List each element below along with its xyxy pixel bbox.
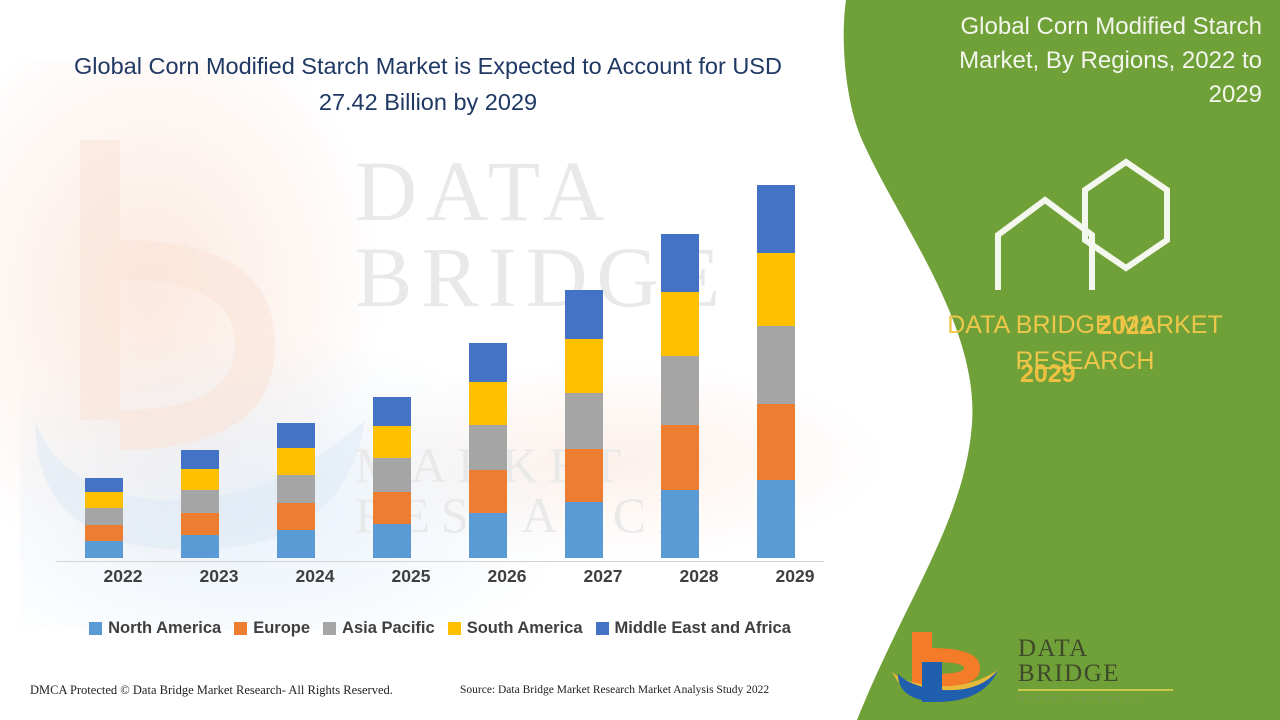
bar-segment[interactable] — [181, 535, 219, 558]
hex-2022-icon — [1085, 162, 1167, 268]
bar-group[interactable] — [85, 478, 123, 558]
bar-segment[interactable] — [469, 382, 507, 425]
stacked-bar-chart — [56, 150, 824, 562]
bar-segment[interactable] — [661, 234, 699, 292]
legend-swatch — [234, 622, 247, 635]
legend-swatch — [448, 622, 461, 635]
x-axis-labels: 20222023202420252026202720282029 — [56, 566, 824, 594]
legend-swatch — [89, 622, 102, 635]
bar-segment[interactable] — [661, 490, 699, 558]
chart-legend: North AmericaEuropeAsia PacificSouth Ame… — [56, 615, 824, 641]
bar-segment[interactable] — [757, 253, 795, 326]
bar-segment[interactable] — [277, 503, 315, 530]
bar-segment[interactable] — [277, 423, 315, 448]
x-axis-line — [56, 561, 824, 562]
hex-badges: 2029 2022 — [880, 140, 1280, 290]
bar-segment[interactable] — [469, 425, 507, 470]
bar-segment[interactable] — [757, 185, 795, 253]
bar-group[interactable] — [469, 343, 507, 558]
legend-item[interactable]: Middle East and Africa — [596, 619, 791, 638]
bar-group[interactable] — [373, 397, 411, 558]
legend-item[interactable]: North America — [89, 619, 221, 638]
bar-segment[interactable] — [85, 508, 123, 525]
bar-group[interactable] — [757, 185, 795, 558]
bar-segment[interactable] — [373, 397, 411, 426]
bar-segment[interactable] — [565, 290, 603, 339]
legend-swatch — [596, 622, 609, 635]
page-title: Global Corn Modified Starch Market is Ex… — [48, 48, 808, 121]
hex-2029-icon — [998, 200, 1092, 290]
bar-segment[interactable] — [661, 292, 699, 356]
x-axis-label: 2024 — [275, 566, 355, 587]
bar-segment[interactable] — [469, 470, 507, 513]
bar-segment[interactable] — [85, 525, 123, 541]
dmca-notice: DMCA Protected © Data Bridge Market Rese… — [30, 683, 393, 698]
legend-label: Europe — [253, 619, 310, 638]
source-note: Source: Data Bridge Market Research Mark… — [460, 684, 769, 696]
logo-divider — [1018, 689, 1173, 691]
bar-segment[interactable] — [373, 426, 411, 458]
legend-item[interactable]: Europe — [234, 619, 310, 638]
x-axis-label: 2026 — [467, 566, 547, 587]
logo-title: DATA BRIDGE — [1018, 636, 1173, 686]
green-panel-content: Global Corn Modified Starch Market, By R… — [880, 0, 1280, 720]
bar-group[interactable] — [277, 423, 315, 558]
bar-segment[interactable] — [757, 326, 795, 403]
legend-label: Asia Pacific — [342, 619, 435, 638]
bar-segment[interactable] — [277, 448, 315, 475]
bar-segment[interactable] — [181, 450, 219, 469]
bar-segment[interactable] — [181, 469, 219, 490]
legend-swatch — [323, 622, 336, 635]
bar-segment[interactable] — [277, 475, 315, 503]
data-bridge-logo: DATA BRIDGE MARKET RESEARCH — [888, 628, 1118, 704]
x-axis-label: 2029 — [755, 566, 835, 587]
bar-segment[interactable] — [565, 339, 603, 392]
logo-text-block: DATA BRIDGE MARKET RESEARCH — [1018, 636, 1173, 703]
legend-item[interactable]: Asia Pacific — [323, 619, 435, 638]
bar-segment[interactable] — [565, 449, 603, 502]
legend-label: South America — [467, 619, 583, 638]
data-bridge-mark-icon — [888, 628, 1013, 704]
bar-segment[interactable] — [469, 343, 507, 381]
bar-segment[interactable] — [373, 492, 411, 524]
x-axis-label: 2022 — [83, 566, 163, 587]
chart-plot-area — [56, 150, 824, 559]
x-axis-label: 2023 — [179, 566, 259, 587]
bar-segment[interactable] — [757, 480, 795, 558]
bar-segment[interactable] — [661, 425, 699, 490]
bar-group[interactable] — [565, 290, 603, 558]
logo-subtitle: MARKET RESEARCH — [1018, 694, 1173, 703]
x-axis-label: 2028 — [659, 566, 739, 587]
bar-segment[interactable] — [469, 513, 507, 558]
bar-segment[interactable] — [277, 530, 315, 558]
x-axis-label: 2027 — [563, 566, 643, 587]
bar-segment[interactable] — [181, 490, 219, 513]
bar-segment[interactable] — [661, 356, 699, 424]
bar-segment[interactable] — [757, 404, 795, 480]
bar-segment[interactable] — [373, 458, 411, 492]
bar-group[interactable] — [661, 234, 699, 558]
bar-segment[interactable] — [565, 502, 603, 558]
bar-segment[interactable] — [373, 524, 411, 558]
bar-group[interactable] — [181, 450, 219, 558]
bar-segment[interactable] — [85, 541, 123, 558]
bar-segment[interactable] — [85, 492, 123, 508]
bar-segment[interactable] — [85, 478, 123, 492]
bar-segment[interactable] — [181, 513, 219, 535]
panel-title: Global Corn Modified Starch Market, By R… — [942, 10, 1262, 112]
legend-label: North America — [108, 619, 221, 638]
brand-name: DATA BRIDGE MARKET RESEARCH — [920, 308, 1250, 379]
chart-panel: DATA BRIDGE MARKET RESEARCH Global Corn … — [0, 0, 880, 720]
x-axis-label: 2025 — [371, 566, 451, 587]
legend-label: Middle East and Africa — [615, 619, 791, 638]
bar-segment[interactable] — [565, 393, 603, 449]
legend-item[interactable]: South America — [448, 619, 583, 638]
